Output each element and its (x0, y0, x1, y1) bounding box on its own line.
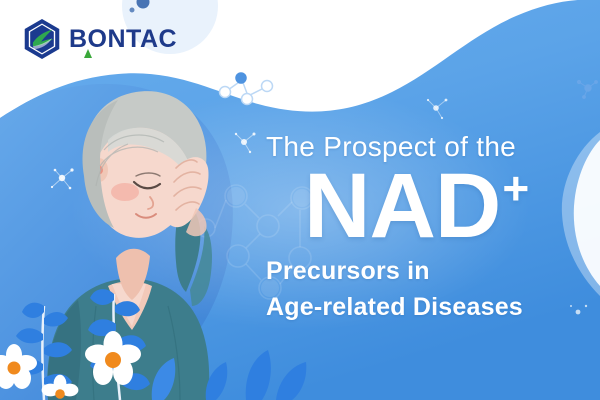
headline-line-4: Age-related Diseases (266, 291, 596, 323)
banner-canvas: BONTAC The Prospect of the NAD + Precurs… (0, 0, 600, 400)
logo-a-accent-icon (84, 49, 92, 58)
brand-name: BONTAC (69, 27, 177, 52)
headline-line-3: Precursors in (266, 255, 596, 287)
brand-logo[interactable]: BONTAC (22, 18, 177, 60)
hexagon-leaf-logo-icon (22, 18, 62, 60)
headline-block: The Prospect of the NAD + Precursors in … (266, 132, 596, 323)
cheek-blush (111, 183, 139, 201)
nad-title: NAD (304, 161, 500, 251)
nad-title-row: NAD + (304, 161, 596, 251)
nad-superscript-plus: + (502, 165, 529, 211)
